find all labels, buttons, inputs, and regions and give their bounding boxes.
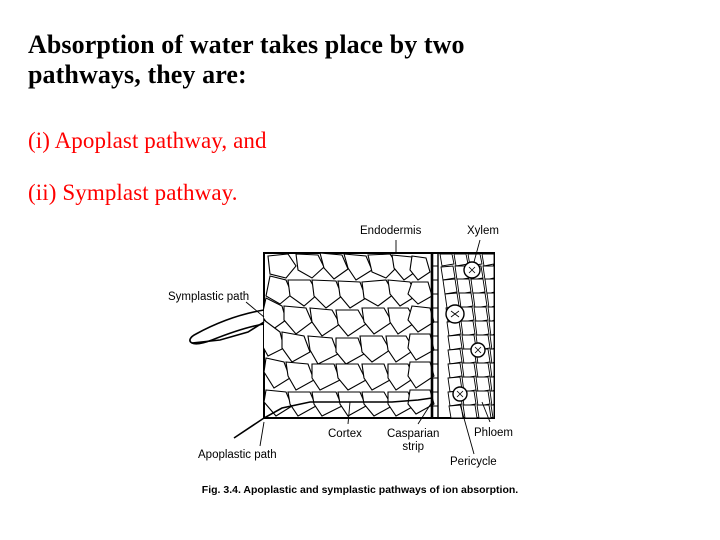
label-casparian-line-2: strip xyxy=(387,441,439,454)
label-casparian-strip: Casparian strip xyxy=(387,428,439,454)
label-xylem: Xylem xyxy=(467,225,499,238)
label-symplastic-path: Symplastic path xyxy=(168,291,249,304)
bullet-symplast-pathway: (ii) Symplast pathway. xyxy=(28,180,238,206)
label-pericycle: Pericycle xyxy=(450,456,497,469)
figure-caption: Fig. 3.4. Apoplastic and symplastic path… xyxy=(160,484,560,496)
figure-ion-absorption: Endodermis Xylem Symplastic path Cortex … xyxy=(160,222,560,507)
label-casparian-line-1: Casparian xyxy=(387,428,439,441)
label-endodermis: Endodermis xyxy=(360,225,421,238)
page-title: Absorption of water takes place by two p… xyxy=(28,30,688,90)
label-apoplastic-path: Apoplastic path xyxy=(198,449,277,462)
slide-canvas: Absorption of water takes place by two p… xyxy=(0,0,720,540)
bullet-apoplast-pathway: (i) Apoplast pathway, and xyxy=(28,128,267,154)
title-line-1: Absorption of water takes place by two xyxy=(28,30,688,60)
root-cross-section-diagram xyxy=(160,222,560,484)
title-line-2: pathways, they are: xyxy=(28,60,688,90)
label-phloem: Phloem xyxy=(474,427,513,440)
label-cortex: Cortex xyxy=(328,428,362,441)
